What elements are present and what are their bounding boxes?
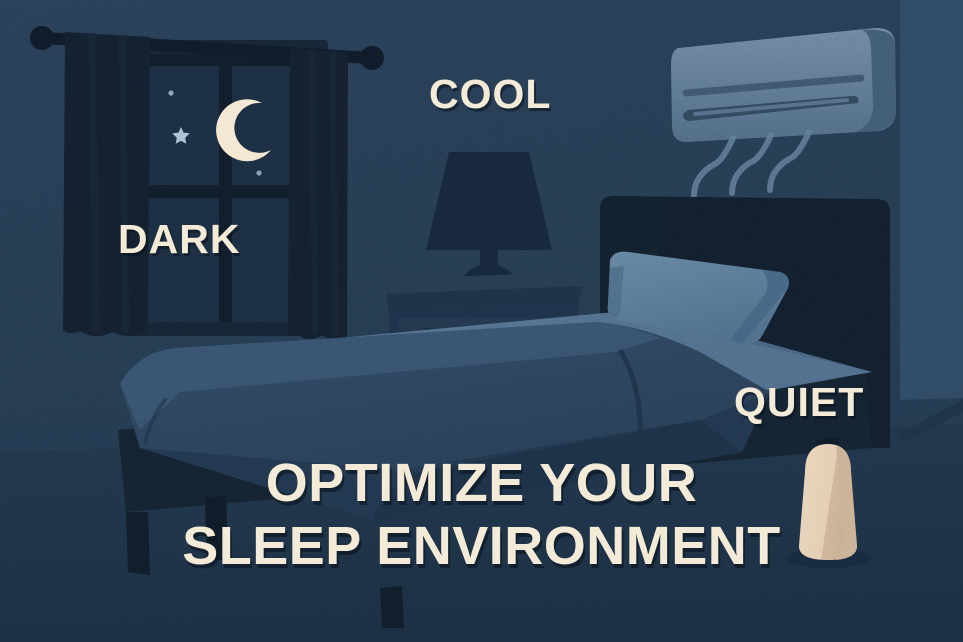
label-cool: COOL <box>429 74 551 115</box>
sleep-environment-poster: DARK COOL QUIET OPTIMIZE YOUR SLEEP ENVI… <box>0 0 963 642</box>
curtain-right <box>288 48 348 340</box>
page-title: OPTIMIZE YOUR SLEEP ENVIRONMENT <box>0 452 963 577</box>
curtain-left <box>63 32 150 336</box>
label-dark: DARK <box>118 219 240 260</box>
headline-line-1: OPTIMIZE YOUR <box>0 452 963 515</box>
star-dot-2 <box>256 170 261 175</box>
headline-line-2: SLEEP ENVIRONMENT <box>0 515 963 578</box>
bed-leg-front <box>380 586 404 628</box>
label-quiet: QUIET <box>734 382 864 423</box>
star-dot-1 <box>168 90 173 95</box>
